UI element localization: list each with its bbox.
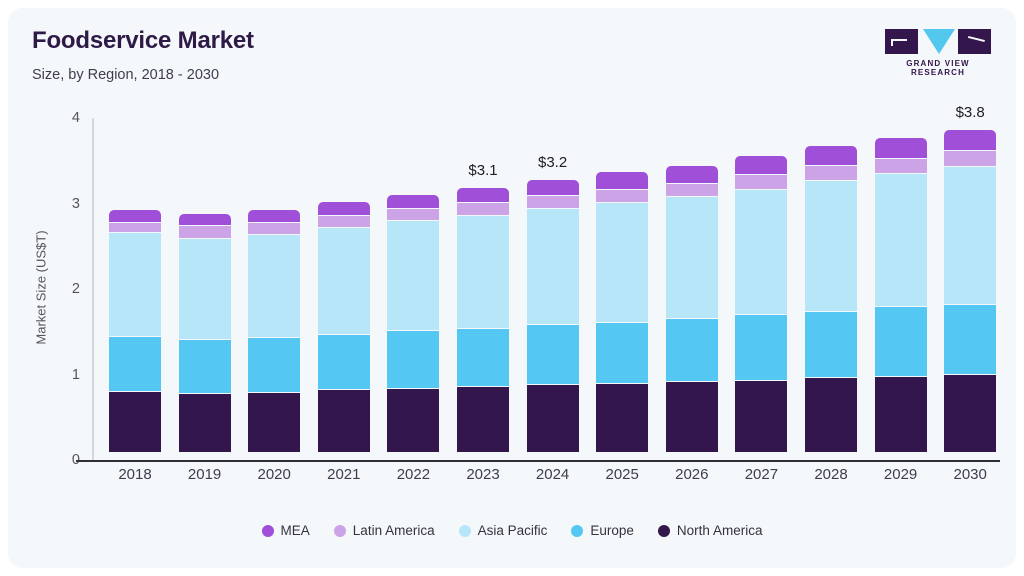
bar-value-label: $3.8 [932, 104, 1008, 121]
bar-segment-latin-america[interactable] [387, 209, 439, 221]
bar-segment-mea[interactable] [596, 172, 648, 189]
legend-item-latin-america[interactable]: Latin America [334, 523, 435, 538]
bar-segment-north-america[interactable] [527, 385, 579, 452]
bar-segment-europe[interactable] [596, 323, 648, 384]
legend-swatch-icon [262, 525, 274, 537]
bar-segment-mea[interactable] [735, 156, 787, 175]
bar-segment-mea[interactable] [666, 166, 718, 184]
bar-segment-europe[interactable] [457, 329, 509, 387]
legend-item-north-america[interactable]: North America [658, 523, 763, 538]
bar-segment-latin-america[interactable] [248, 223, 300, 235]
x-axis-tick-label: 2022 [375, 466, 451, 483]
bar-segment-asia-pacific[interactable] [735, 190, 787, 316]
legend-swatch-icon [459, 525, 471, 537]
y-axis-line [92, 118, 94, 460]
bar-segment-europe[interactable] [109, 337, 161, 392]
bar-segment-mea[interactable] [179, 214, 231, 226]
bar-segment-asia-pacific[interactable] [666, 197, 718, 318]
bar-segment-north-america[interactable] [248, 393, 300, 452]
legend-swatch-icon [658, 525, 670, 537]
bar-segment-europe[interactable] [248, 338, 300, 393]
bar-segment-mea[interactable] [875, 138, 927, 159]
bar-segment-europe[interactable] [666, 319, 718, 382]
bar-segment-europe[interactable] [805, 312, 857, 379]
legend-item-europe[interactable]: Europe [571, 523, 634, 538]
bar-stack[interactable] [179, 214, 231, 452]
bar-stack[interactable] [387, 195, 439, 452]
bar-segment-asia-pacific[interactable] [248, 235, 300, 338]
bar-segment-north-america[interactable] [805, 378, 857, 452]
x-axis-line [76, 460, 1000, 462]
bar-segment-north-america[interactable] [318, 390, 370, 452]
bar-segment-latin-america[interactable] [596, 190, 648, 204]
y-axis-tick-label: 4 [46, 111, 80, 125]
x-axis-tick-label: 2026 [654, 466, 730, 483]
chart-plot-area: Market Size (US$T) 01234 201820192020202… [8, 8, 1016, 568]
bar-segment-mea[interactable] [248, 210, 300, 223]
bar-segment-mea[interactable] [457, 188, 509, 203]
bar-segment-north-america[interactable] [875, 377, 927, 452]
legend-item-mea[interactable]: MEA [262, 523, 310, 538]
bar-value-label: $3.2 [515, 154, 591, 171]
bar-stack[interactable] [457, 188, 509, 452]
x-axis-tick-label: 2028 [793, 466, 869, 483]
bar-segment-asia-pacific[interactable] [596, 203, 648, 323]
bar-stack[interactable] [944, 130, 996, 452]
bar-segment-latin-america[interactable] [735, 175, 787, 190]
x-axis-tick-label: 2030 [932, 466, 1008, 483]
bar-segment-mea[interactable] [387, 195, 439, 210]
bar-stack[interactable] [527, 180, 579, 452]
bar-segment-latin-america[interactable] [109, 223, 161, 233]
bar-stack[interactable] [318, 202, 370, 452]
bar-segment-north-america[interactable] [944, 375, 996, 452]
bar-segment-north-america[interactable] [179, 394, 231, 452]
bar-segment-latin-america[interactable] [318, 216, 370, 228]
x-axis-tick-label: 2023 [445, 466, 521, 483]
bar-segment-latin-america[interactable] [875, 159, 927, 174]
bar-segment-north-america[interactable] [666, 382, 718, 452]
bar-stack[interactable] [596, 172, 648, 452]
x-axis-tick-label: 2029 [863, 466, 939, 483]
bar-segment-latin-america[interactable] [666, 184, 718, 198]
bar-stack[interactable] [248, 210, 300, 452]
legend-label: Europe [590, 523, 634, 538]
bar-segment-europe[interactable] [875, 307, 927, 377]
y-axis-tick-label: 2 [46, 282, 80, 296]
bar-segment-asia-pacific[interactable] [944, 167, 996, 305]
bar-segment-asia-pacific[interactable] [457, 216, 509, 329]
x-axis-tick-label: 2021 [306, 466, 382, 483]
bar-segment-europe[interactable] [944, 305, 996, 375]
bar-segment-north-america[interactable] [109, 392, 161, 452]
bar-segment-north-america[interactable] [596, 384, 648, 452]
bar-segment-europe[interactable] [318, 335, 370, 391]
bar-segment-latin-america[interactable] [944, 151, 996, 167]
bar-stack[interactable] [805, 146, 857, 452]
bar-segment-europe[interactable] [179, 340, 231, 394]
legend-item-asia-pacific[interactable]: Asia Pacific [459, 523, 548, 538]
legend-swatch-icon [334, 525, 346, 537]
bar-value-label: $3.1 [445, 162, 521, 179]
x-axis-tick-label: 2027 [723, 466, 799, 483]
bar-stack[interactable] [735, 156, 787, 452]
x-axis-tick-label: 2019 [167, 466, 243, 483]
bar-segment-mea[interactable] [109, 210, 161, 223]
bar-segment-asia-pacific[interactable] [805, 181, 857, 312]
legend-swatch-icon [571, 525, 583, 537]
bar-stack[interactable] [666, 166, 718, 452]
bar-segment-europe[interactable] [735, 315, 787, 381]
legend-label: MEA [281, 523, 310, 538]
bar-segment-north-america[interactable] [735, 381, 787, 452]
bar-segment-mea[interactable] [944, 130, 996, 151]
bar-segment-north-america[interactable] [457, 387, 509, 452]
bar-stack[interactable] [109, 210, 161, 452]
x-axis-tick-label: 2020 [236, 466, 312, 483]
bar-stack[interactable] [875, 138, 927, 452]
y-axis-tick-label: 0 [46, 453, 80, 467]
bar-segment-latin-america[interactable] [179, 226, 231, 239]
legend-label: Latin America [353, 523, 435, 538]
bar-segment-north-america[interactable] [387, 389, 439, 452]
bar-segment-asia-pacific[interactable] [875, 174, 927, 307]
bar-segment-asia-pacific[interactable] [527, 209, 579, 325]
legend-label: North America [677, 523, 763, 538]
x-axis-tick-label: 2024 [515, 466, 591, 483]
bar-segment-asia-pacific[interactable] [179, 239, 231, 340]
bar-segment-mea[interactable] [318, 202, 370, 216]
bar-segment-mea[interactable] [527, 180, 579, 196]
legend-label: Asia Pacific [478, 523, 548, 538]
bar-segment-latin-america[interactable] [805, 166, 857, 181]
bar-segment-asia-pacific[interactable] [318, 228, 370, 335]
bar-segment-latin-america[interactable] [457, 203, 509, 216]
chart-card: Foodservice Market Size, by Region, 2018… [8, 8, 1016, 568]
bar-segment-latin-america[interactable] [527, 196, 579, 209]
chart-legend: MEALatin AmericaAsia PacificEuropeNorth … [8, 523, 1016, 538]
bar-segment-asia-pacific[interactable] [387, 221, 439, 331]
bar-segment-europe[interactable] [527, 325, 579, 385]
bar-segment-asia-pacific[interactable] [109, 233, 161, 337]
bar-segment-mea[interactable] [805, 146, 857, 166]
y-axis-tick-label: 3 [46, 197, 80, 211]
bar-segment-europe[interactable] [387, 331, 439, 388]
x-axis-tick-label: 2025 [584, 466, 660, 483]
x-axis-tick-label: 2018 [97, 466, 173, 483]
y-axis-tick-label: 1 [46, 368, 80, 382]
